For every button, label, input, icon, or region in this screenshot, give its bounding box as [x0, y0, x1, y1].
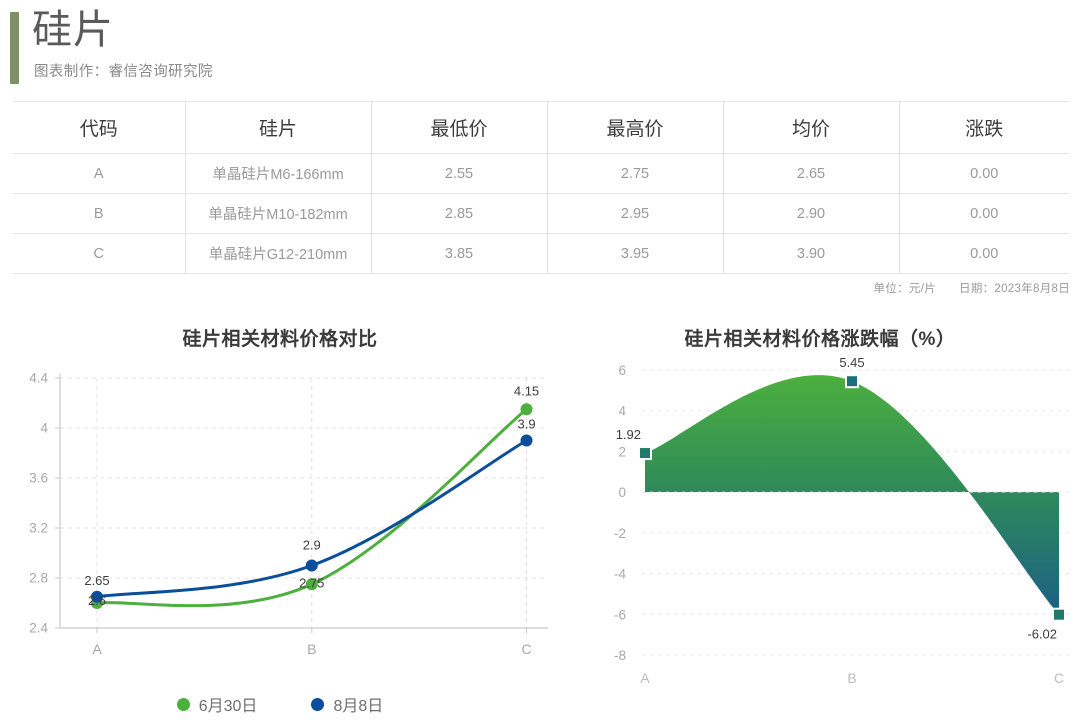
cell-change: 0.00: [899, 234, 1069, 274]
table-body: A 单晶硅片M6-166mm 2.55 2.75 2.65 0.00 B 单晶硅…: [13, 154, 1069, 274]
svg-text:4.15: 4.15: [514, 383, 539, 398]
svg-text:3.9: 3.9: [517, 417, 535, 432]
table-row: B 单晶硅片M10-182mm 2.85 2.95 2.90 0.00: [13, 194, 1069, 234]
legend-dot-icon: [311, 698, 324, 711]
cell-wafer: 单晶硅片M10-182mm: [185, 194, 371, 234]
cell-min: 2.55: [371, 154, 547, 194]
table-header: 代码 硅片 最低价 最高价 均价 涨跌: [13, 102, 1069, 154]
svg-text:-4: -4: [614, 567, 626, 582]
svg-text:A: A: [92, 641, 102, 657]
cell-wafer: 单晶硅片M6-166mm: [185, 154, 371, 194]
cell-change: 0.00: [899, 154, 1069, 194]
cell-max: 3.95: [547, 234, 723, 274]
footnote-unit: 单位：元/片: [874, 283, 937, 295]
column-header-avg: 均价: [723, 102, 899, 154]
svg-text:C: C: [521, 641, 531, 657]
svg-text:-2: -2: [614, 526, 626, 541]
legend-label: 8月8日: [333, 692, 383, 716]
svg-text:2.75: 2.75: [299, 575, 324, 590]
svg-text:B: B: [847, 670, 856, 686]
svg-text:4: 4: [40, 421, 48, 436]
column-header-change: 涨跌: [899, 102, 1069, 154]
table-row: C 单晶硅片G12-210mm 3.85 3.95 3.90 0.00: [13, 234, 1069, 274]
page-header: 硅片 图表制作：睿信咨询研究院: [0, 0, 1080, 92]
legend-item-series-1[interactable]: 6月30日: [177, 692, 258, 716]
legend-label: 6月30日: [199, 692, 258, 716]
price-table: 代码 硅片 最低价 最高价 均价 涨跌 A 单晶硅片M6-166mm 2.55 …: [13, 101, 1069, 274]
price-change-chart: 硅片相关材料价格涨跌幅（%） 6420-2-4-6-81.925.45-6.02…: [560, 310, 1080, 720]
footnote-date: 日期：2023年8月8日: [959, 283, 1070, 295]
column-header-code: 代码: [13, 102, 185, 154]
table-footnote: 单位：元/片 日期：2023年8月8日: [874, 280, 1070, 296]
svg-text:6: 6: [618, 363, 626, 378]
svg-text:1.92: 1.92: [616, 427, 641, 442]
svg-text:4: 4: [618, 404, 626, 419]
svg-text:2.65: 2.65: [84, 573, 109, 588]
column-header-min: 最低价: [371, 102, 547, 154]
svg-text:C: C: [1054, 670, 1064, 686]
cell-avg: 3.90: [723, 234, 899, 274]
cell-code: A: [13, 154, 185, 194]
column-header-wafer: 硅片: [185, 102, 371, 154]
svg-text:-8: -8: [614, 648, 626, 663]
table-header-row: 代码 硅片 最低价 最高价 均价 涨跌: [13, 102, 1069, 154]
cell-min: 2.85: [371, 194, 547, 234]
svg-text:2.6: 2.6: [88, 593, 106, 608]
cell-code: C: [13, 234, 185, 274]
svg-text:-6: -6: [614, 607, 626, 622]
cell-avg: 2.65: [723, 154, 899, 194]
svg-text:4.4: 4.4: [29, 371, 48, 386]
cell-max: 2.75: [547, 154, 723, 194]
price-table-container: 代码 硅片 最低价 最高价 均价 涨跌 A 单晶硅片M6-166mm 2.55 …: [13, 101, 1069, 274]
legend-item-series-2[interactable]: 8月8日: [311, 692, 383, 716]
svg-text:5.45: 5.45: [839, 355, 864, 370]
page-title: 硅片: [32, 5, 114, 55]
svg-text:A: A: [640, 670, 650, 686]
cell-max: 2.95: [547, 194, 723, 234]
page-subtitle: 图表制作：睿信咨询研究院: [34, 60, 213, 81]
svg-text:-6.02: -6.02: [1027, 627, 1057, 642]
svg-text:2.8: 2.8: [29, 571, 48, 586]
svg-text:0: 0: [618, 485, 626, 500]
legend-dot-icon: [177, 698, 190, 711]
column-header-max: 最高价: [547, 102, 723, 154]
page-root: 硅片 图表制作：睿信咨询研究院 代码 硅片 最低价 最高价 均价 涨跌: [0, 0, 1080, 720]
right-chart-svg: 6420-2-4-6-81.925.45-6.02ABC: [560, 310, 1080, 710]
price-comparison-chart: 硅片相关材料价格对比 2.42.83.23.644.4ABC2.62.754.1…: [0, 310, 560, 720]
table-row: A 单晶硅片M6-166mm 2.55 2.75 2.65 0.00: [13, 154, 1069, 194]
cell-code: B: [13, 194, 185, 234]
svg-text:2.4: 2.4: [29, 621, 48, 636]
cell-min: 3.85: [371, 234, 547, 274]
svg-text:2.9: 2.9: [303, 538, 321, 553]
cell-avg: 2.90: [723, 194, 899, 234]
cell-wafer: 单晶硅片G12-210mm: [185, 234, 371, 274]
svg-text:B: B: [307, 641, 316, 657]
left-chart-legend: 6月30日 8月8日: [0, 692, 560, 716]
accent-bar: [10, 12, 19, 84]
svg-text:2: 2: [618, 444, 626, 459]
svg-text:3.6: 3.6: [29, 471, 48, 486]
svg-text:3.2: 3.2: [29, 521, 48, 536]
cell-change: 0.00: [899, 194, 1069, 234]
left-chart-svg: 2.42.83.23.644.4ABC2.62.754.152.652.93.9: [0, 310, 560, 690]
